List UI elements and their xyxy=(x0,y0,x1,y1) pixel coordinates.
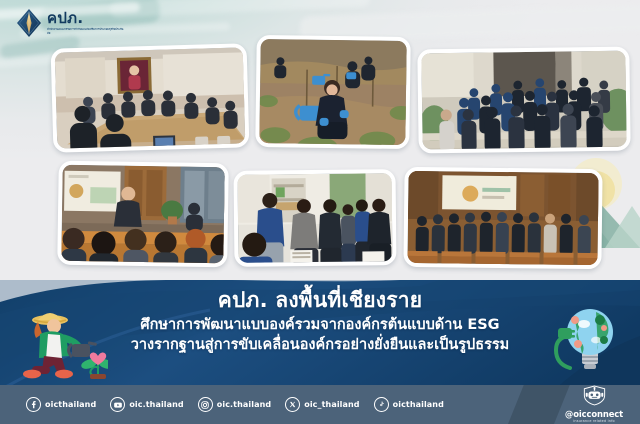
instagram-icon xyxy=(198,397,213,412)
oic-logo: คปภ. สำนักงานคณะกรรมการกำกับและส่งเสริมก… xyxy=(16,8,125,38)
headline-line-2: ศึกษาการพัฒนาแบบองค์รวมจากองค์กรต้นแบบด้… xyxy=(96,315,544,335)
photo-tree-planting xyxy=(255,35,411,149)
youtube-icon xyxy=(110,397,125,412)
logo-full-name: สำนักงานคณะกรรมการกำกับและส่งเสริมการประ… xyxy=(47,28,125,36)
x-twitter-icon xyxy=(285,397,300,412)
social-facebook-handle: oicthailand xyxy=(45,400,96,409)
social-youtube-handle: oic.thailand xyxy=(129,400,183,409)
poster-canvas: คปภ. สำนักงานคณะกรรมการกำกับและส่งเสริมก… xyxy=(0,0,640,424)
oicconnect-subtitle: insurance related info xyxy=(573,419,615,423)
brush-stroke xyxy=(110,0,370,18)
photo-auditorium-group xyxy=(403,167,602,269)
logo-acronym: คปภ. xyxy=(47,11,125,26)
oicconnect-robot-shield-icon xyxy=(583,385,606,410)
facebook-icon xyxy=(26,397,41,412)
social-youtube[interactable]: oic.thailand xyxy=(110,397,183,412)
headline-line-3: วางรากฐานสู่การขับเคลื่อนองค์กรอย่างยั่ง… xyxy=(96,335,544,355)
tiktok-icon xyxy=(374,397,389,412)
social-tiktok[interactable]: oicthailand xyxy=(374,397,444,412)
social-instagram-handle: oic.thailand xyxy=(217,400,271,409)
photo-boardroom-meeting xyxy=(51,43,250,152)
oicconnect-name: @oicconnect xyxy=(565,410,623,418)
social-links: oicthailand oic.thailand oic.thailand xyxy=(0,397,545,412)
globe-lightbulb-green-energy-icon xyxy=(544,300,632,380)
gardener-watering-plant-icon xyxy=(10,306,108,380)
photo-lecture-audience xyxy=(57,161,229,268)
social-x-handle: oic_thailand xyxy=(304,400,359,409)
oic-diamond-logo-icon xyxy=(16,8,42,38)
headline-line-1: คปภ. ลงพื้นที่เชียงราย xyxy=(96,288,544,314)
photo-group-on-steps xyxy=(417,47,630,154)
social-x-twitter[interactable]: oic_thailand xyxy=(285,397,359,412)
social-instagram[interactable]: oic.thailand xyxy=(198,397,271,412)
social-facebook[interactable]: oicthailand xyxy=(26,397,96,412)
social-tiktok-handle: oicthailand xyxy=(393,400,444,409)
photo-office-visit xyxy=(234,169,397,267)
